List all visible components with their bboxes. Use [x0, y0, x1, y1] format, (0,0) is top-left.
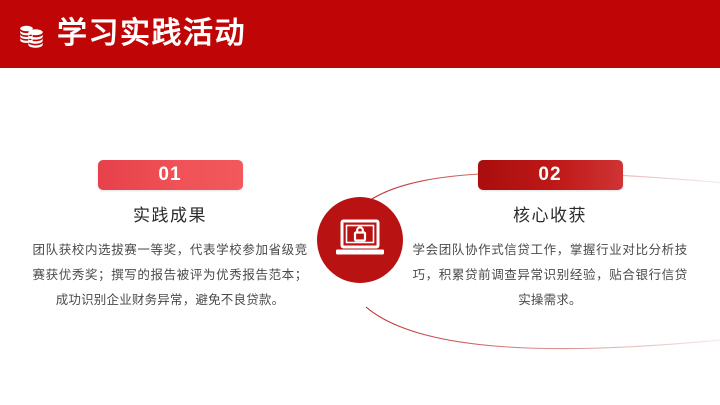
- coins-stack-icon: [14, 18, 48, 52]
- badge-01-label: 01: [158, 164, 181, 186]
- column-left-body: 团队获校内选拔赛一等奖，代表学校参加省级竞赛获优秀奖；撰写的报告被评为优秀报告范…: [33, 238, 308, 313]
- badge-02: 02: [478, 160, 623, 190]
- page-title: 学习实践活动: [57, 19, 246, 49]
- content-column-right: 02 核心收获 学会团队协作式信贷工作，掌握行业对比分析技巧，积累贷前调查异常识…: [405, 160, 695, 313]
- content-column-left: 01 实践成果 团队获校内选拔赛一等奖，代表学校参加省级竞赛获优秀奖；撰写的报告…: [25, 160, 315, 313]
- column-left-title: 实践成果: [133, 206, 207, 226]
- slide-header-bar: 学习实践活动: [0, 0, 720, 68]
- column-right-title: 核心收获: [513, 206, 587, 226]
- center-emblem: [317, 197, 403, 283]
- slide-canvas: 学习实践活动: [0, 0, 720, 405]
- badge-01: 01: [98, 160, 243, 190]
- laptop-lock-icon: [333, 218, 387, 262]
- column-right-body: 学会团队协作式信贷工作，掌握行业对比分析技巧，积累贷前调查异常识别经验，贴合银行…: [413, 238, 688, 313]
- badge-02-label: 02: [538, 164, 561, 186]
